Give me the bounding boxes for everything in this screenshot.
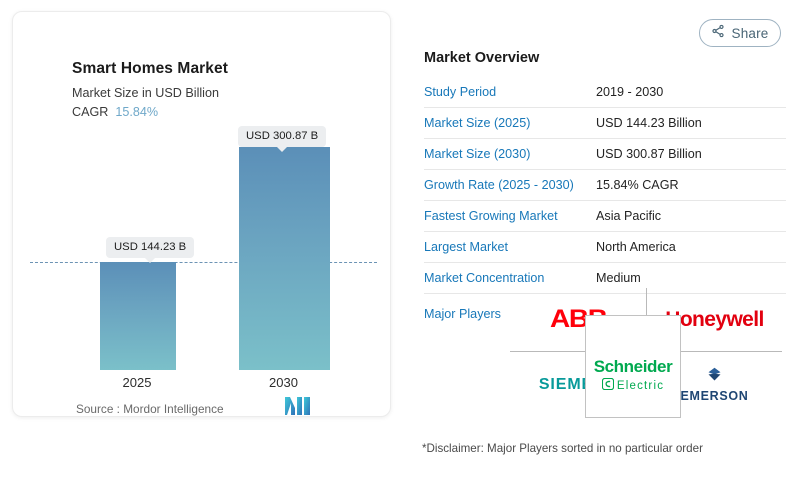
bar-2030[interactable]: [239, 147, 330, 370]
share-button-label: Share: [731, 26, 768, 41]
row-value: Asia Pacific: [596, 209, 661, 223]
row-value: 2019 - 2030: [596, 85, 663, 99]
cagr-label: CAGR: [72, 105, 108, 119]
schneider-badge-icon: [602, 377, 614, 395]
row-label: Largest Market: [424, 240, 596, 254]
x-axis-label-2030: 2030: [238, 375, 329, 390]
chart-title: Smart Homes Market: [72, 60, 228, 78]
bar-chart-plot-area: USD 144.23 B USD 300.87 B: [14, 122, 391, 372]
row-label: Study Period: [424, 85, 596, 99]
major-players-logo-grid: ABB Honeywell SIEMENS EMERSON Schneider: [510, 288, 782, 418]
data-label-2025: USD 144.23 B: [106, 237, 194, 258]
cagr-row: CAGR 15.84%: [72, 105, 158, 119]
table-row: Market Size (2025) USD 144.23 Billion: [424, 108, 786, 139]
table-row: Fastest Growing Market Asia Pacific: [424, 201, 786, 232]
chart-card: Smart Homes Market Market Size in USD Bi…: [12, 11, 391, 417]
row-value: 15.84% CAGR: [596, 178, 679, 192]
row-label: Market Size (2025): [424, 116, 596, 130]
bar-2025[interactable]: [100, 262, 176, 370]
player-logo-schneider-electric: Schneider Electric: [585, 315, 681, 418]
row-label: Market Concentration: [424, 271, 596, 285]
cagr-value: 15.84%: [115, 105, 158, 119]
row-value: USD 300.87 Billion: [596, 147, 702, 161]
row-label: Fastest Growing Market: [424, 209, 596, 223]
row-value: USD 144.23 Billion: [596, 116, 702, 130]
table-row: Study Period 2019 - 2030: [424, 77, 786, 108]
row-label: Market Size (2030): [424, 147, 596, 161]
x-axis-label-2025: 2025: [99, 375, 175, 390]
disclaimer-text: *Disclaimer: Major Players sorted in no …: [422, 442, 703, 455]
emerson-diamond-icon: [707, 367, 722, 387]
chart-subtitle: Market Size in USD Billion: [72, 86, 219, 100]
data-label-2030: USD 300.87 B: [238, 126, 326, 147]
schneider-subword: Electric: [617, 380, 664, 392]
row-value: North America: [596, 240, 676, 254]
schneider-wordmark: Schneider: [594, 358, 673, 375]
share-nodes-icon: [711, 24, 725, 43]
table-row: Largest Market North America: [424, 232, 786, 263]
mordor-intelligence-logo: [285, 397, 311, 417]
market-overview-title: Market Overview: [424, 50, 786, 66]
emerson-wordmark: EMERSON: [680, 389, 748, 403]
table-row: Market Size (2030) USD 300.87 Billion: [424, 139, 786, 170]
row-label: Growth Rate (2025 - 2030): [424, 178, 596, 192]
row-value: Medium: [596, 271, 641, 285]
source-text: Source : Mordor Intelligence: [76, 402, 224, 416]
table-row: Growth Rate (2025 - 2030) 15.84% CAGR: [424, 170, 786, 201]
share-button[interactable]: Share: [699, 19, 781, 47]
market-overview-panel: Market Overview Study Period 2019 - 2030…: [424, 50, 786, 321]
market-report-page: Share Smart Homes Market Market Size in …: [0, 0, 800, 482]
